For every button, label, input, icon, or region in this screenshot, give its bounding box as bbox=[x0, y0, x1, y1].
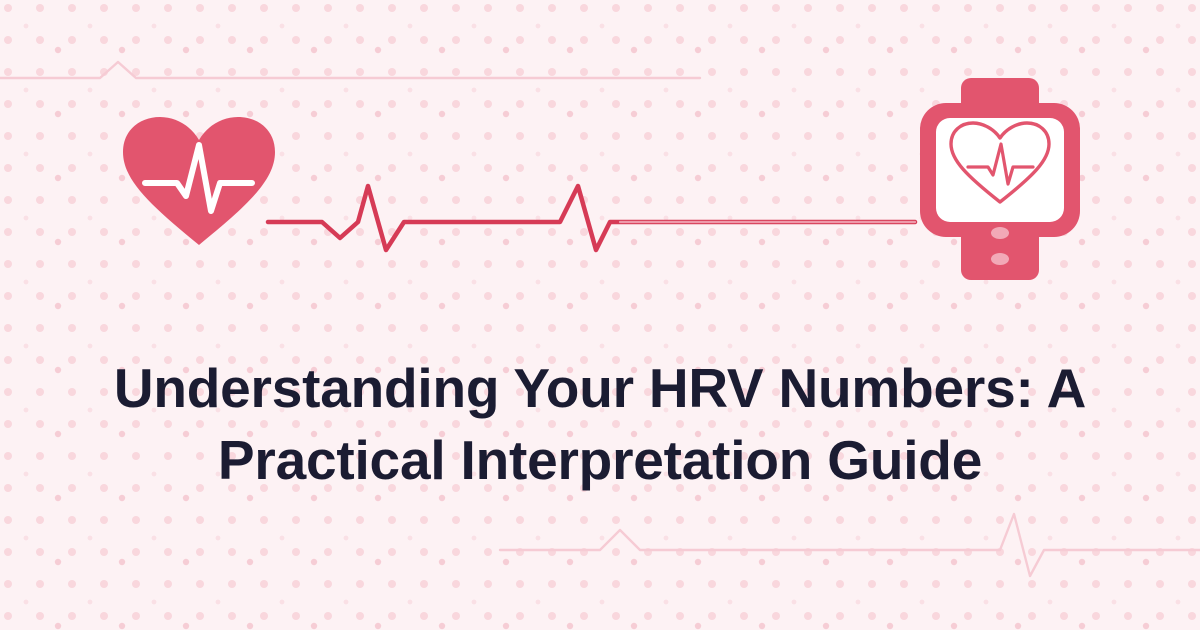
ecg-line bbox=[268, 186, 915, 250]
hero-graphics bbox=[0, 0, 1200, 300]
heart-pulse-icon bbox=[123, 117, 275, 245]
watch-button-dot-lower bbox=[991, 253, 1009, 265]
page-title-line-1: Understanding Your HRV Numbers: A bbox=[0, 352, 1200, 424]
faint-ecg-line-bottom bbox=[500, 514, 1200, 576]
smartwatch-icon bbox=[920, 78, 1080, 280]
social-card: Understanding Your HRV Numbers: A Practi… bbox=[0, 0, 1200, 630]
page-title: Understanding Your HRV Numbers: A Practi… bbox=[0, 352, 1200, 496]
watch-button-dot-upper bbox=[991, 227, 1009, 239]
page-title-line-2: Practical Interpretation Guide bbox=[0, 424, 1200, 496]
